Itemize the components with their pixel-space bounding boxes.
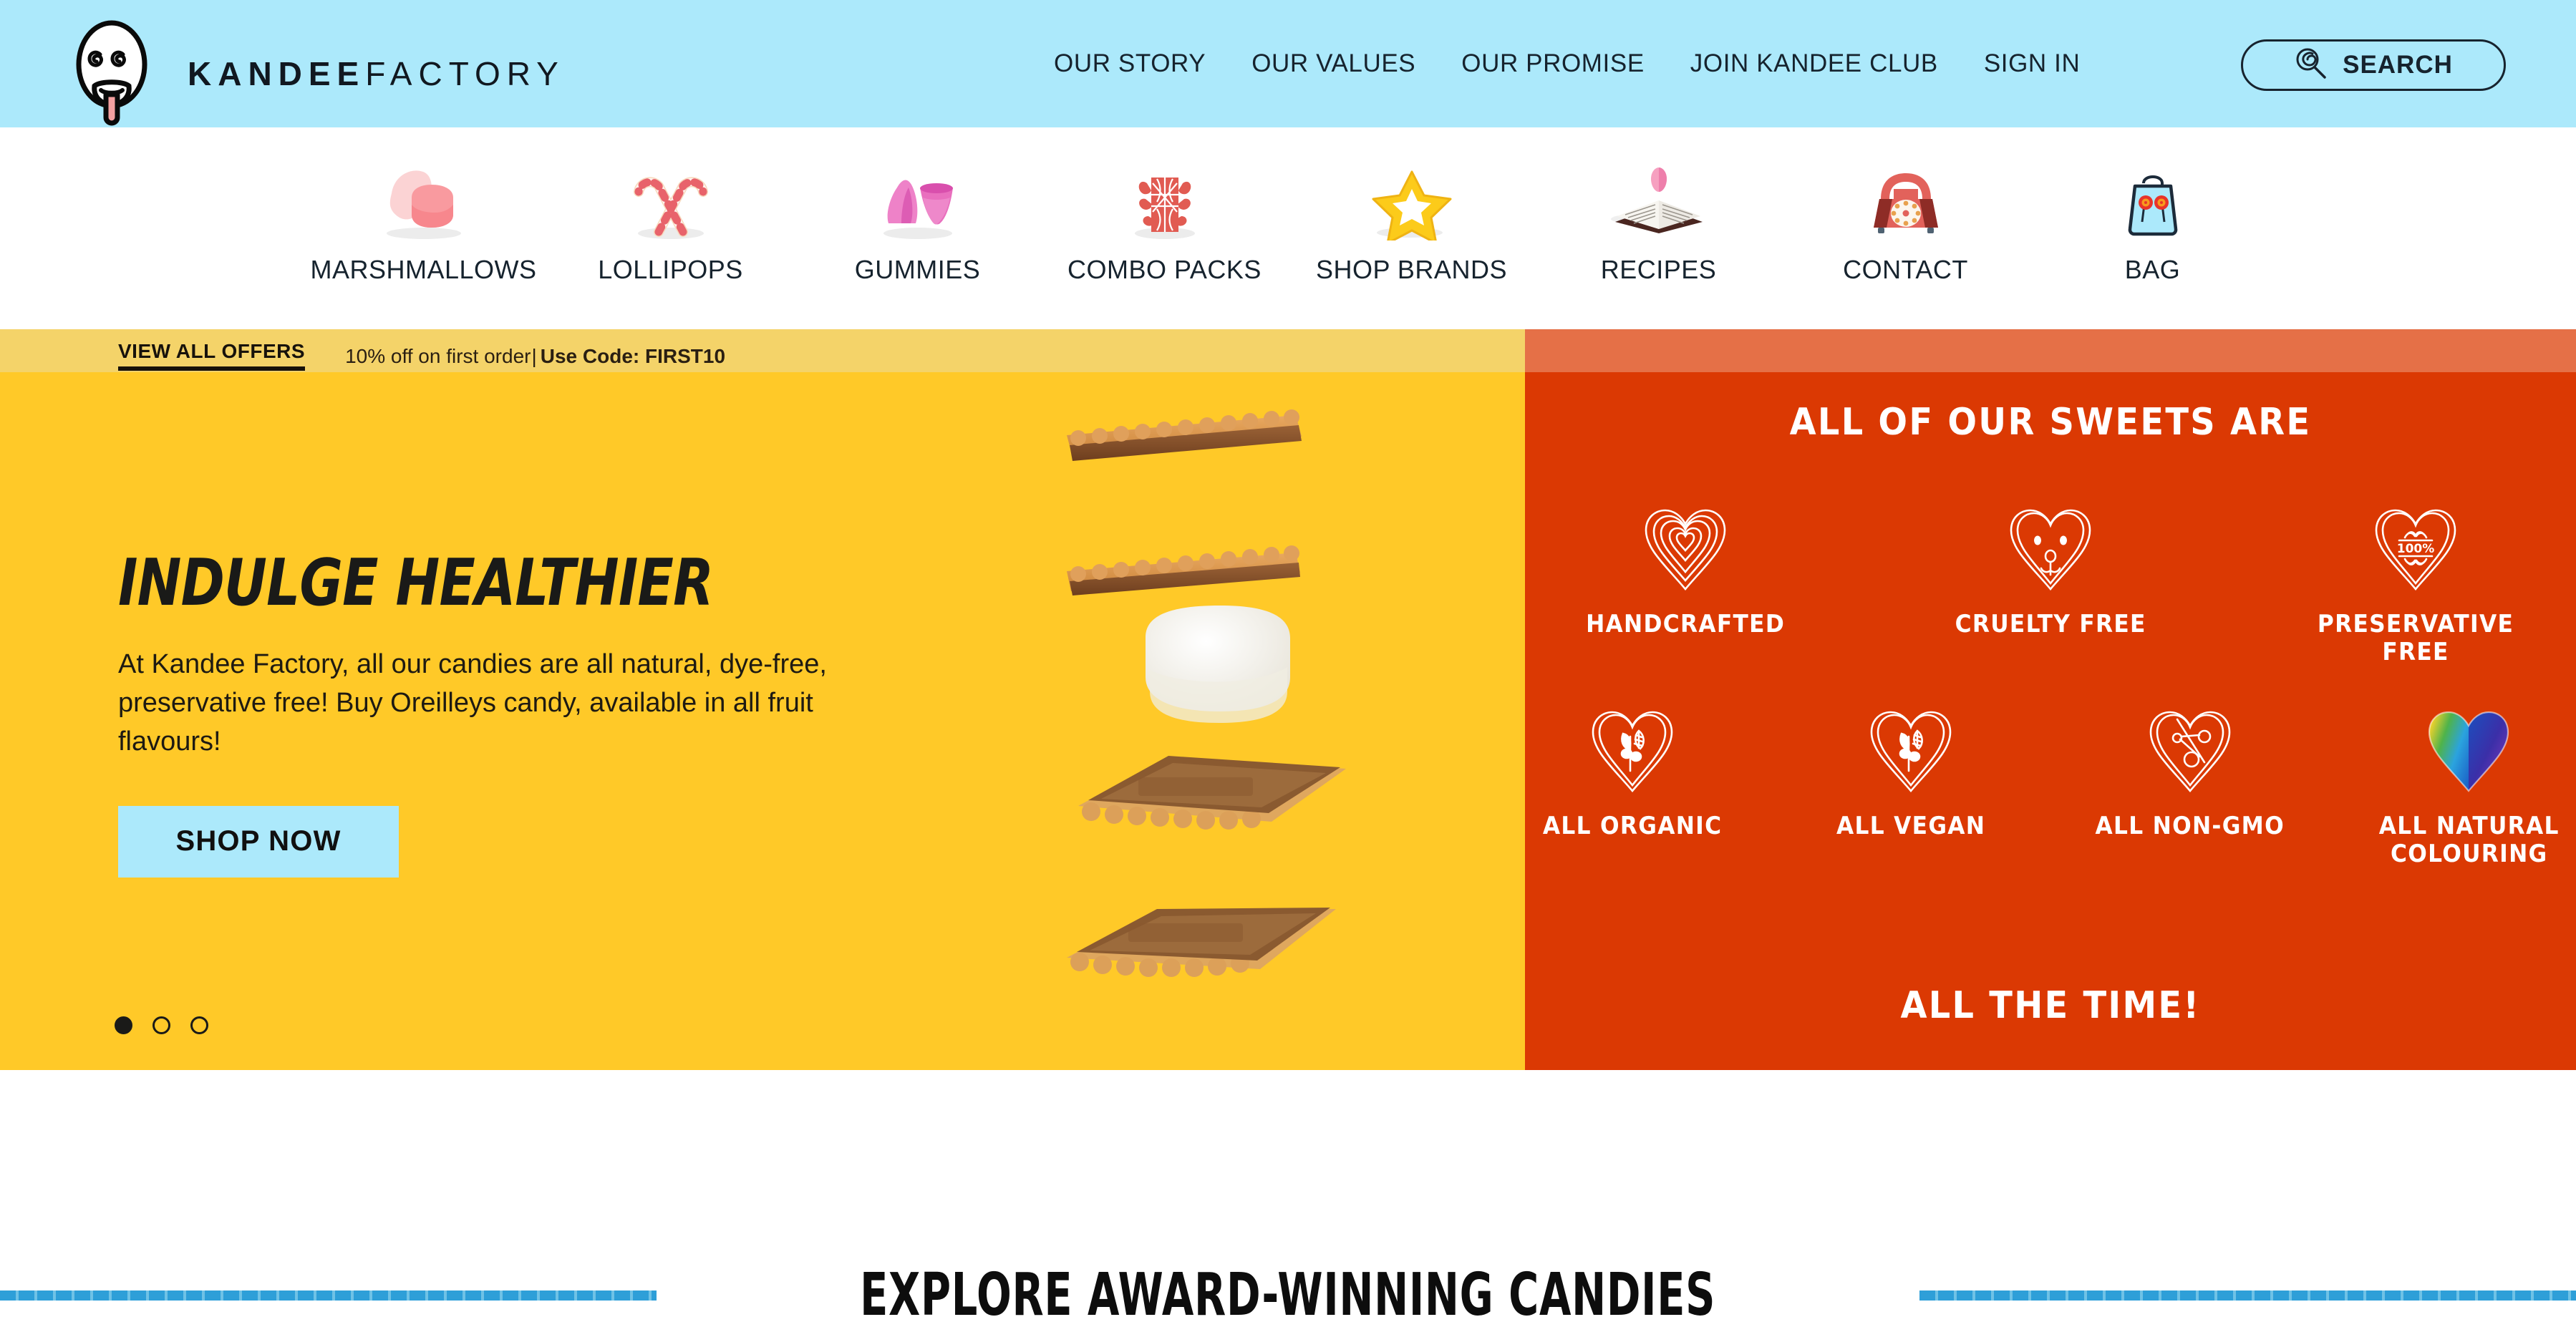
white-marshmallow: [1146, 606, 1290, 723]
sprout-heart-icon: [1857, 692, 1965, 799]
biscuit-bar-edge-second: [1067, 545, 1300, 596]
offer-separator: |: [531, 345, 536, 368]
offer-bar-message: 10% off on first order|Use Code: FIRST10: [345, 345, 725, 368]
hero-copy: INDULGE HEALTHIER At Kandee Factory, all…: [118, 551, 906, 878]
badge-label: ALL ORGANIC: [1543, 812, 1722, 840]
chocolate-biscuit-upper: [1078, 756, 1346, 830]
badge-all-organic: ALL ORGANIC: [1525, 692, 1740, 868]
category-label: RECIPES: [1601, 255, 1717, 285]
category-bag[interactable]: BAG: [2029, 147, 2276, 285]
concentric-heart-icon: [1632, 490, 1739, 598]
category-label: CONTACT: [1843, 255, 1968, 285]
category-combo-packs[interactable]: COMBO PACKS: [1041, 147, 1288, 285]
candy-canes-icon: [617, 147, 725, 240]
category-recipes[interactable]: RECIPES: [1535, 147, 1782, 285]
offer-text: 10% off on first order: [345, 345, 531, 368]
explore-rule-left: [0, 1290, 657, 1301]
brand-logo[interactable]: KANDEEFACTORY: [70, 20, 565, 127]
promise-heading: ALL OF OUR SWEETS ARE: [1567, 401, 2534, 444]
promise-panel: ALL OF OUR SWEETS ARE: [1525, 372, 2576, 1070]
category-label: GUMMIES: [855, 255, 981, 285]
main-navigation: OUR STORY OUR VALUES OUR PROMISE JOIN KA…: [1031, 0, 2103, 127]
explore-section: EXPLORE AWARD-WINNING CANDIES: [0, 1070, 2576, 1327]
badge-label: ALL NON-GMO: [2096, 812, 2285, 840]
promise-badge-row-2: ALL ORGANIC: [1525, 692, 2576, 868]
promise-footer: ALL THE TIME!: [1567, 984, 2534, 1027]
offer-code: Use Code: FIRST10: [541, 345, 725, 368]
hero-section: INDULGE HEALTHIER At Kandee Factory, all…: [0, 372, 2576, 1070]
badge-label: ALL VEGAN: [1836, 812, 1985, 840]
star-icon: [1358, 147, 1466, 240]
brand-wordmark: KANDEEFACTORY: [188, 54, 565, 93]
search-button-label: SEARCH: [2343, 51, 2453, 79]
nav-sign-in[interactable]: SIGN IN: [1961, 49, 2103, 78]
promise-badge-row-1: HANDCRAFTED: [1525, 490, 2576, 666]
category-label: LOLLIPOPS: [598, 255, 743, 285]
animal-face-heart-icon: [1997, 490, 2104, 598]
badge-cruelty-free: CRUELTY FREE: [1932, 490, 2169, 666]
recipe-book-icon: [1598, 147, 1720, 240]
badge-label: HANDCRAFTED: [1586, 611, 1785, 638]
nav-our-promise[interactable]: OUR PROMISE: [1438, 49, 1667, 78]
badge-handcrafted: HANDCRAFTED: [1567, 490, 1803, 666]
badge-label: CRUELTY FREE: [1955, 611, 2146, 638]
hundred-percent-heart-icon: 100%: [2362, 490, 2469, 598]
rainbow-heart-icon: [2415, 692, 2522, 799]
gummies-icon: [864, 147, 972, 240]
promise-badge-grid: HANDCRAFTED: [1525, 490, 2576, 868]
category-gummies[interactable]: GUMMIES: [794, 147, 1041, 285]
page-root: KANDEEFACTORY OUR STORY OUR VALUES OUR P…: [0, 0, 2576, 1327]
lollipop-search-icon: [2294, 47, 2328, 84]
molecule-heart-icon: [2136, 692, 2244, 799]
chocolate-biscuit-lower: [1067, 908, 1336, 977]
shopping-bag-icon: [2099, 147, 2207, 240]
view-all-offers-link[interactable]: VIEW ALL OFFERS: [118, 341, 305, 371]
category-label: SHOP BRANDS: [1316, 255, 1507, 285]
nav-our-story[interactable]: OUR STORY: [1031, 49, 1229, 78]
category-label: BAG: [2125, 255, 2181, 285]
marshmallows-icon: [370, 147, 478, 240]
category-label: COMBO PACKS: [1067, 255, 1262, 285]
hero-title: INDULGE HEALTHIER: [118, 551, 764, 616]
category-label: MARSHMALLOWS: [310, 255, 536, 285]
badge-all-non-gmo: ALL NON-GMO: [2083, 692, 2297, 868]
badge-label: PRESERVATIVE FREE: [2307, 611, 2524, 666]
kandee-face-logo-icon: [70, 20, 153, 127]
brand-word-bold: KANDEE: [188, 54, 365, 93]
combo-pack-icon: [1111, 147, 1219, 240]
site-header: KANDEEFACTORY OUR STORY OUR VALUES OUR P…: [0, 0, 2576, 127]
category-bar: MARSHMALLOWS LOLLIPOPS: [0, 127, 2576, 329]
svg-text:100%: 100%: [2397, 542, 2435, 556]
badge-preservative-free: 100% PRESERVATIVE FREE: [2297, 490, 2534, 666]
badge-all-natural-colouring: ALL NATURAL COLOURING: [2362, 692, 2576, 868]
leaf-heart-icon: [1579, 692, 1686, 799]
biscuit-bar-edge-top: [1067, 409, 1302, 461]
category-marshmallows[interactable]: MARSHMALLOWS: [300, 147, 547, 285]
hero-product-stack: [1060, 401, 1375, 1045]
carousel-dots: [115, 1016, 208, 1034]
category-shop-brands[interactable]: SHOP BRANDS: [1288, 147, 1535, 285]
brand-word-light: FACTORY: [365, 54, 565, 93]
badge-label: ALL NATURAL COLOURING: [2370, 812, 2567, 868]
explore-rule-right: [1919, 1290, 2576, 1301]
carousel-dot-2[interactable]: [152, 1016, 170, 1034]
category-lollipops[interactable]: LOLLIPOPS: [547, 147, 794, 285]
rotary-phone-icon: [1852, 147, 1960, 240]
hero-left-panel: INDULGE HEALTHIER At Kandee Factory, all…: [0, 372, 1525, 1070]
search-button[interactable]: SEARCH: [2241, 39, 2506, 91]
hero-description: At Kandee Factory, all our candies are a…: [118, 646, 848, 762]
nav-join-kandee-club[interactable]: JOIN KANDEE CLUB: [1667, 49, 1961, 78]
shop-now-button[interactable]: SHOP NOW: [118, 806, 399, 878]
carousel-dot-3[interactable]: [190, 1016, 208, 1034]
nav-our-values[interactable]: OUR VALUES: [1229, 49, 1438, 78]
badge-all-vegan: ALL VEGAN: [1804, 692, 2019, 868]
carousel-dot-1[interactable]: [115, 1016, 132, 1034]
category-contact[interactable]: CONTACT: [1782, 147, 2029, 285]
explore-title: EXPLORE AWARD-WINNING CANDIES: [860, 1261, 1715, 1327]
